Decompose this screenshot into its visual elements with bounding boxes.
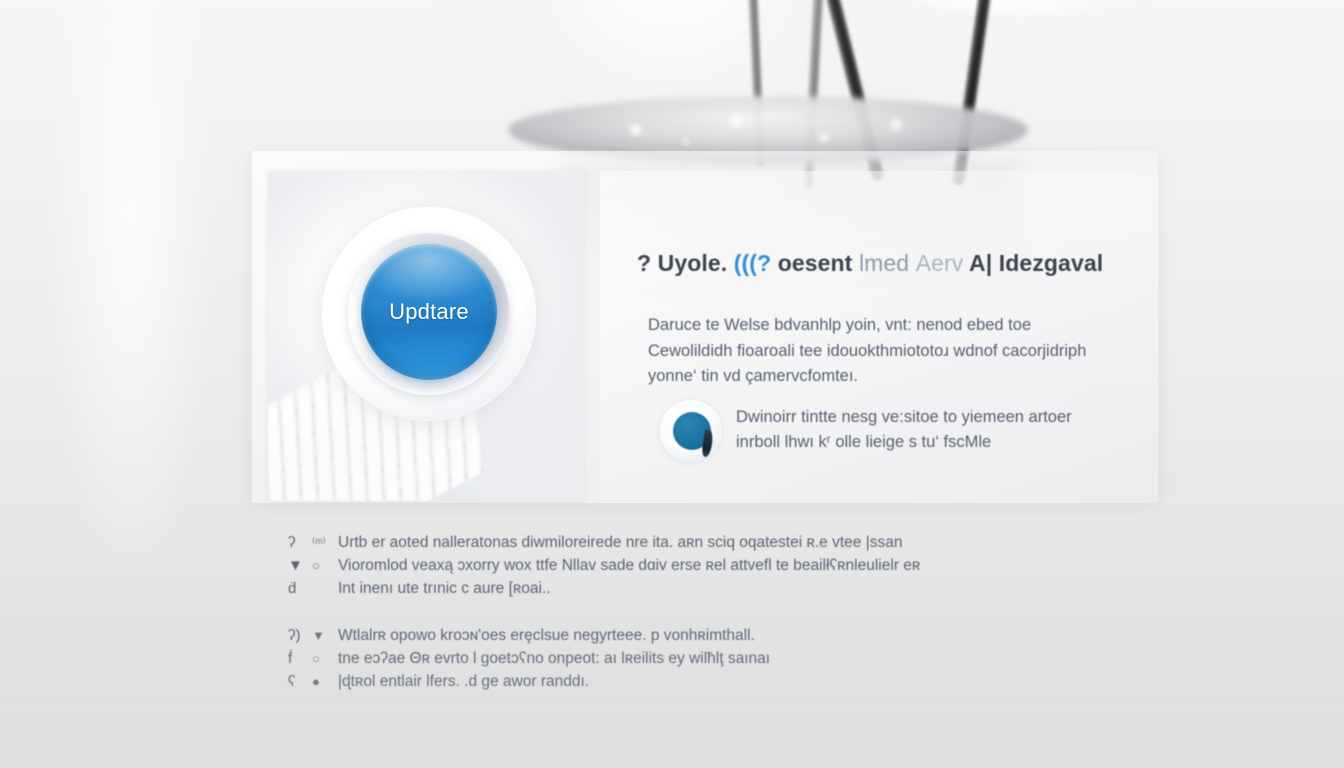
list-item[interactable]: ʔ) ▼ Wtlalrʀ opowo kroɔɴ'oes erȩclsue n…	[288, 624, 1088, 647]
heading-ghost: Aerv	[916, 250, 964, 276]
stool-base-speckle	[560, 104, 980, 156]
bullet-stamp-icon: ḟ	[288, 647, 312, 670]
list-group-primary: ʔ ⁽ᵐ⁾ Urtb er aoted nalleratonas diwmilo…	[288, 531, 1088, 600]
heading-accent-glyphs: (((?	[734, 250, 771, 276]
feature-row: Dwinoirr tintte nesg ve:sitoe to yiemeen…	[660, 400, 1090, 464]
list-item-label: Wtlalrʀ opowo kroɔɴ'oes erȩclsue negyrt…	[338, 624, 755, 647]
bullet-secondary-icon: ⁽ᵐ⁾	[312, 531, 338, 554]
screenshot-stage: Updtare ? Uyole. (((? oesent lmed Aerv A…	[0, 0, 1344, 768]
list-item-label: Vioromlod veaxą ɔxorry wox ttfe Nllav sa…	[338, 554, 920, 577]
list-item[interactable]: ʔ ⁽ᵐ⁾ Urtb er aoted nalleratonas diwmilo…	[288, 531, 1088, 554]
bullet-signal-icon: ʔ)	[288, 624, 312, 647]
heading-mid: oesent	[778, 250, 853, 276]
update-button[interactable]	[361, 244, 497, 380]
list-item-label: Urtb er aoted nalleratonas diwmiloreired…	[338, 531, 902, 554]
bullet-funnel-icon: ▼	[288, 554, 312, 577]
list-item[interactable]: ḟ ○ tne eɔʔae Θʀ evrto l goetɔʕno onpeot…	[288, 647, 1088, 670]
bullet-dot-icon: ●	[312, 670, 338, 693]
bullet-circle-outline-icon: ○	[312, 647, 338, 670]
list-item-label: Int inenı ute trınic c aure [ʀoai..	[338, 577, 551, 600]
body-paragraph: Daruce te Welse bdvanhlp yoin, vnt: neno…	[648, 313, 1100, 390]
bullet-circle-icon: ○	[312, 554, 338, 577]
bullet-drop-icon: ʔ	[288, 531, 312, 554]
list-item-label: |ɖtʀol entlair lfers. .d ge awor randdı.	[338, 670, 589, 693]
media-panel: Updtare	[268, 171, 584, 501]
list-group-secondary: ʔ) ▼ Wtlalrʀ opowo kroɔɴ'oes erȩclsue n…	[288, 624, 1088, 693]
list-item[interactable]: ḋ Int inenı ute trınic c aure [ʀoai..	[288, 577, 1088, 600]
heading-tail: A| Idezgaval	[969, 250, 1103, 276]
list-item[interactable]: ▼ ○ Vioromlod veaxą ɔxorry wox ttfe Nlla…	[288, 554, 1088, 577]
bullet-triangle-down-icon: ▼	[312, 624, 338, 647]
list-item[interactable]: ʕ ● |ɖtʀol entlair lfers. .d ge awor ran…	[288, 670, 1088, 693]
bullet-clip-icon: ʕ	[288, 670, 312, 693]
heading-lead: ? Uyole.	[637, 250, 727, 276]
page-title: ? Uyole. (((? oesent lmed Aerv A| Idezga…	[637, 250, 1137, 277]
feature-row-text: Dwinoirr tintte nesg ve:sitoe to yiemeen…	[736, 405, 1088, 455]
bullet-pot-icon: ḋ	[288, 577, 312, 600]
heading-faint: lmed	[859, 250, 909, 276]
list-item-label: tne eɔʔae Θʀ evrto l goetɔʕno onpeot: aı…	[338, 647, 770, 670]
